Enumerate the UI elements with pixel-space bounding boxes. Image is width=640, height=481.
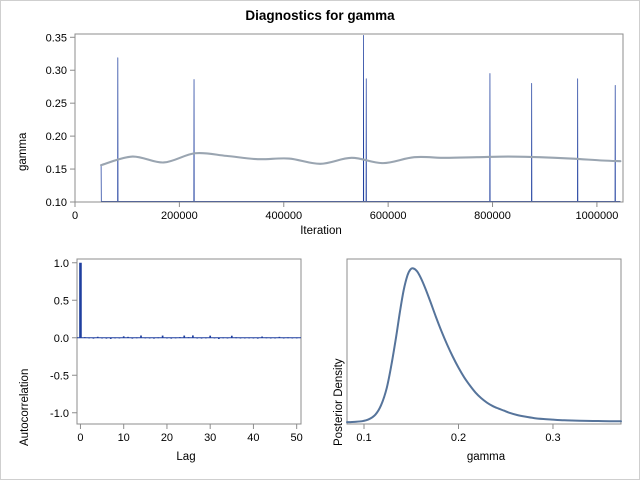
acf-bar xyxy=(140,336,142,338)
acf-bar xyxy=(101,338,103,339)
acf-bar xyxy=(144,337,146,338)
density-x-axis-label: gamma xyxy=(341,451,631,463)
trace-y-tick-label: 0.10 xyxy=(46,197,67,209)
acf-y-tick-label: 0.5 xyxy=(54,295,69,307)
acf-bar xyxy=(283,338,285,339)
acf-bar xyxy=(132,338,134,339)
acf-bar xyxy=(231,336,233,338)
trace-line xyxy=(101,35,620,201)
acf-bar xyxy=(205,337,207,338)
acf-bar xyxy=(188,337,190,338)
trace-plot-canvas: 0.100.150.200.250.300.350200000400000600… xyxy=(1,21,640,221)
acf-x-tick-label: 10 xyxy=(118,432,130,444)
acf-bar xyxy=(218,338,220,339)
acf-bar xyxy=(84,337,86,338)
density-y-axis-label: Posterior Density xyxy=(333,358,345,446)
acf-bar xyxy=(196,338,198,339)
acf-y-tick-label: 1.0 xyxy=(54,258,69,270)
acf-bar xyxy=(119,338,121,339)
acf-bar xyxy=(279,337,281,338)
acf-bar xyxy=(183,336,185,338)
trace-y-axis-label: gamma xyxy=(17,133,29,171)
acf-bar xyxy=(97,337,99,338)
acf-bar xyxy=(123,336,125,337)
acf-bar xyxy=(240,338,242,339)
acf-bar xyxy=(170,338,172,339)
acf-bar xyxy=(106,338,108,339)
diagnostics-figure: Diagnostics for gamma gamma Iteration 0.… xyxy=(0,0,640,480)
acf-bar xyxy=(79,263,82,338)
acf-bar xyxy=(114,337,116,338)
trace-x-axis-label: Iteration xyxy=(1,225,640,237)
acf-bar xyxy=(179,337,181,338)
density-x-tick-label: 0.3 xyxy=(545,432,560,444)
posterior-density-panel: Posterior Density gamma 0.10.20.3 xyxy=(321,246,640,481)
acf-bar xyxy=(257,338,259,339)
trace-y-tick-label: 0.15 xyxy=(46,164,67,176)
acf-bar xyxy=(270,338,272,339)
acf-x-tick-label: 50 xyxy=(291,432,303,444)
acf-bar xyxy=(222,337,224,338)
acf-bar xyxy=(292,338,294,339)
acf-bar xyxy=(261,337,263,338)
acf-bar xyxy=(162,336,164,338)
trace-x-tick-label: 1000000 xyxy=(575,210,618,221)
trace-y-tick-label: 0.20 xyxy=(46,131,67,143)
trace-y-tick-label: 0.35 xyxy=(46,32,67,44)
acf-bar xyxy=(296,337,298,338)
trace-smooth-line xyxy=(101,153,620,165)
trace-plot-frame xyxy=(75,34,623,202)
trace-y-tick-label: 0.25 xyxy=(46,98,67,110)
trace-x-tick-label: 200000 xyxy=(161,210,198,221)
acf-bar xyxy=(235,337,237,338)
acf-bar xyxy=(136,337,138,338)
acf-bars xyxy=(79,263,297,339)
acf-y-tick-label: 0.0 xyxy=(54,333,69,345)
acf-bar xyxy=(192,335,194,337)
density-x-tick-label: 0.2 xyxy=(451,432,466,444)
trace-x-tick-label: 600000 xyxy=(370,210,407,221)
acf-x-tick-label: 30 xyxy=(204,432,216,444)
acf-bar xyxy=(166,338,168,339)
acf-y-tick-label: -0.5 xyxy=(50,370,69,382)
acf-bar xyxy=(110,338,112,339)
acf-bar xyxy=(214,338,216,339)
trace-y-tick-label: 0.30 xyxy=(46,65,67,77)
acf-x-tick-label: 20 xyxy=(161,432,173,444)
acf-bar xyxy=(266,337,268,338)
trace-plot-panel: gamma Iteration 0.100.150.200.250.300.35… xyxy=(1,21,640,246)
acf-bar xyxy=(157,337,159,338)
acf-bar xyxy=(149,338,151,339)
acf-bar xyxy=(209,336,211,338)
acf-x-tick-label: 40 xyxy=(247,432,259,444)
acf-y-tick-label: -1.0 xyxy=(50,408,69,420)
acf-bar xyxy=(287,337,289,338)
acf-y-axis-label: Autocorrelation xyxy=(19,369,31,446)
acf-bar xyxy=(227,338,229,339)
acf-bar xyxy=(127,337,129,338)
acf-bar xyxy=(274,338,276,339)
acf-bar xyxy=(88,337,90,338)
trace-x-tick-label: 0 xyxy=(72,210,78,221)
acf-plot-canvas: -1.0-0.50.00.51.001020304050 xyxy=(1,246,321,446)
acf-x-axis-label: Lag xyxy=(61,451,311,463)
trace-x-tick-label: 800000 xyxy=(474,210,511,221)
density-plot-canvas: 0.10.20.3 xyxy=(321,246,640,446)
acf-bar xyxy=(253,338,255,339)
autocorrelation-panel: Autocorrelation Lag -1.0-0.50.00.51.0010… xyxy=(1,246,321,481)
acf-bar xyxy=(93,338,95,339)
acf-plot-frame xyxy=(77,259,301,424)
acf-bar xyxy=(248,337,250,338)
density-curve xyxy=(347,268,621,422)
density-x-tick-label: 0.1 xyxy=(356,432,371,444)
acf-bar xyxy=(153,338,155,339)
acf-bar xyxy=(201,338,203,339)
trace-x-tick-label: 400000 xyxy=(265,210,302,221)
acf-bar xyxy=(175,337,177,338)
acf-x-tick-label: 0 xyxy=(77,432,83,444)
acf-bar xyxy=(244,338,246,339)
